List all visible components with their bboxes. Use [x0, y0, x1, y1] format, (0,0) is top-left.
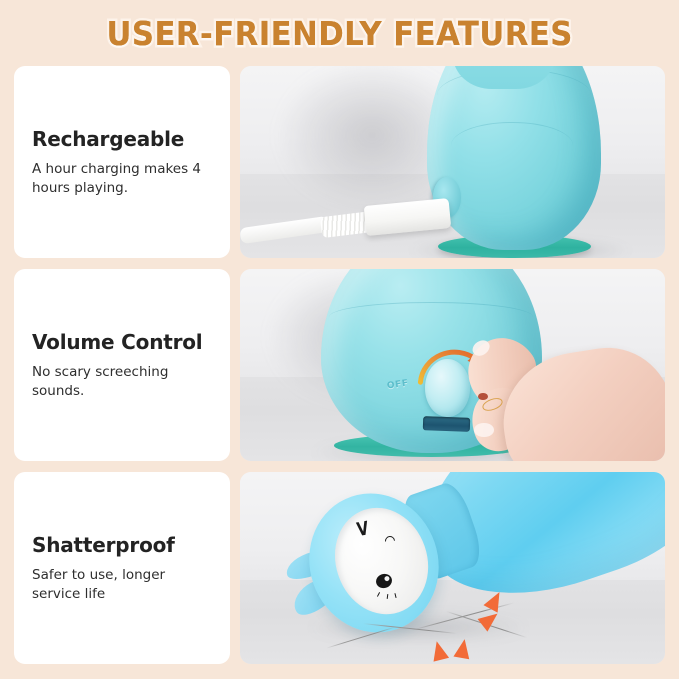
impact-marker [453, 638, 472, 659]
feature-description-volume-control: No scary screeching sounds. [32, 363, 212, 400]
toy-crease [451, 122, 573, 170]
feature-row-volume-control: Volume Control No scary screeching sound… [14, 269, 665, 461]
feature-card-rechargeable: Rechargeable A hour charging makes 4 hou… [14, 66, 230, 258]
shatterproof-photo: V [240, 472, 665, 664]
feature-row-shatterproof: Shatterproof Safer to use, longer servic… [14, 472, 665, 664]
hand [453, 327, 666, 461]
feature-row-rechargeable: Rechargeable A hour charging makes 4 hou… [14, 66, 665, 258]
feature-title-shatterproof: Shatterproof [32, 533, 212, 557]
charging-photo [240, 66, 665, 258]
feature-card-shatterproof: Shatterproof Safer to use, longer servic… [14, 472, 230, 664]
page-header: USER-FRIENDLY FEATURES [0, 0, 679, 66]
fingernail [474, 423, 494, 437]
feature-description-rechargeable: A hour charging makes 4 hours playing. [32, 160, 212, 197]
page-title: USER-FRIENDLY FEATURES [106, 14, 572, 53]
feature-grid: Rechargeable A hour charging makes 4 hou… [14, 66, 665, 666]
toy-body [427, 66, 601, 250]
feature-title-rechargeable: Rechargeable [32, 127, 212, 151]
volume-knob-photo: OFF ON [240, 269, 665, 461]
feature-card-volume-control: Volume Control No scary screeching sound… [14, 269, 230, 461]
feature-description-shatterproof: Safer to use, longer service life [32, 566, 212, 603]
feature-title-volume-control: Volume Control [32, 330, 212, 354]
